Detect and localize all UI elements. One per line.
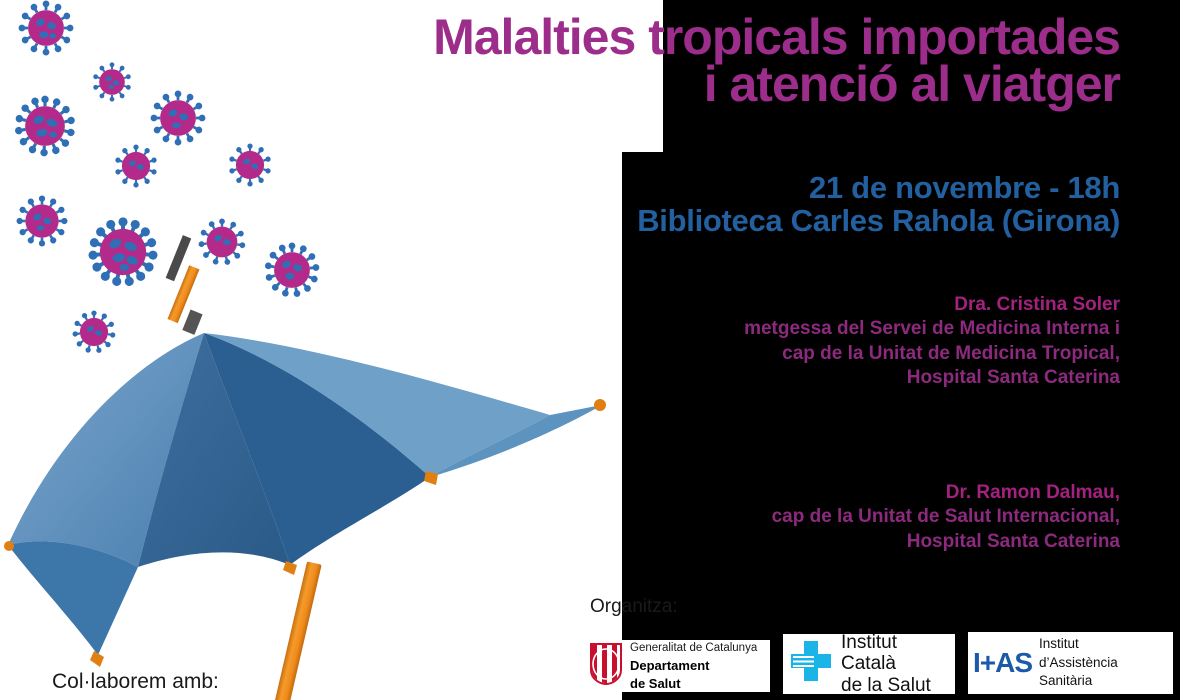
event-venue: Biblioteca Carles Rahola (Girona) [0, 205, 1120, 238]
event-datetime-venue: 21 de novembre - 18h Biblioteca Carles R… [0, 172, 1120, 238]
logo-gencat-line-1: Generalitat de Catalunya [630, 642, 757, 654]
title-line-1: Malalties tropicals importades [0, 14, 1120, 61]
logo-ias-line-1: Institut [1039, 636, 1079, 651]
catalan-shield-icon [589, 642, 623, 691]
logo-ics-line-1: Institut Català [841, 632, 897, 675]
umbrella-ferrule [166, 235, 203, 335]
speaker-1-role-line-3: Hospital Santa Caterina [560, 366, 1120, 390]
speaker-2-role-line-2: Hospital Santa Caterina [560, 530, 1120, 554]
page-title: Malalties tropicals importades i atenció… [0, 14, 1120, 108]
logo-gencat-text: Generalitat de Catalunya Departament de … [630, 638, 757, 694]
title-line-2: i atenció al viatger [0, 61, 1120, 108]
logo-ias-line-3: Sanitària [1039, 673, 1092, 688]
speaker-1-name: Dra. Cristina Soler [560, 293, 1120, 317]
organitza-label: Organitza: [590, 596, 678, 618]
ias-acronym-logo: I+AS [973, 647, 1032, 679]
logo-gencat-line-2: Departament [630, 658, 709, 673]
speaker-2-name: Dr. Ramon Dalmau, [560, 481, 1120, 505]
collaborem-label: Col·laborem amb: [52, 670, 219, 694]
logo-ias-text: Institut d’Assistència Sanitària [1039, 635, 1118, 691]
poster-canvas: Malalties tropicals importades i atenció… [0, 0, 1180, 700]
speaker-1-role-line-1: metgessa del Servei de Medicina Interna … [560, 317, 1120, 341]
logo-ics-line-2: de la Salut [841, 675, 931, 696]
medical-cross-icon [788, 638, 834, 691]
logo-generalitat-departament-salut: Generalitat de Catalunya Departament de … [585, 640, 770, 692]
speaker-2-role-line-1: cap de la Unitat de Salut Internacional, [560, 505, 1120, 529]
speaker-block-2: Dr. Ramon Dalmau, cap de la Unitat de Sa… [560, 481, 1120, 554]
speaker-1-role-line-2: cap de la Unitat de Medicina Tropical, [560, 342, 1120, 366]
logo-institut-assistencia-sanitaria: I+AS Institut d’Assistència Sanitària [968, 632, 1173, 694]
logo-ias-line-2: d’Assistència [1039, 655, 1118, 670]
umbrella-illustration [0, 215, 610, 700]
event-date-time: 21 de novembre - 18h [0, 172, 1120, 205]
logo-institut-catala-salut: Institut Català de la Salut [783, 634, 955, 694]
speaker-block-1: Dra. Cristina Soler metgessa del Servei … [560, 293, 1120, 390]
logo-ics-text: Institut Català de la Salut [841, 632, 950, 697]
logo-gencat-line-3: de Salut [630, 676, 681, 691]
